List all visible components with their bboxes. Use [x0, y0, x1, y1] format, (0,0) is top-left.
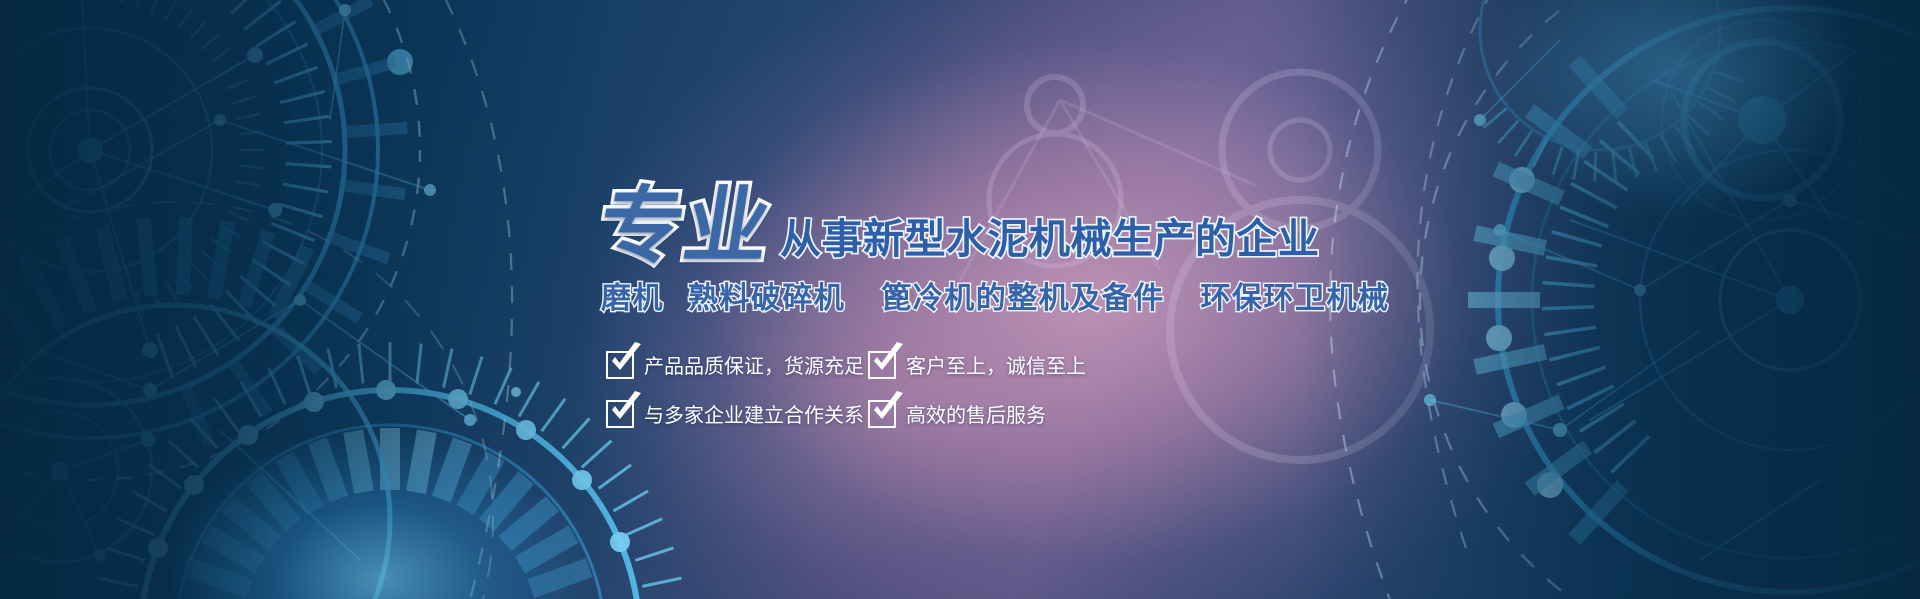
product-line-text: 磨机 熟料破碎机 篦冷机的整机及备件 环保环卫机械 — [601, 284, 1390, 314]
feature-label: 高效的售后服务 — [906, 399, 1046, 428]
feature-list: 产品品质保证，货源充足 客户至上，诚信至上 与多家企业建立合作关系 — [606, 350, 1166, 428]
headline-emphasis: 专业 — [594, 186, 777, 267]
checkbox-checked-icon — [868, 351, 896, 379]
feature-item: 客户至上，诚信至上 — [868, 350, 1166, 379]
banner-copy: 专业 从事新型水泥机械生产的企业 磨机 熟料破碎机 篦冷机的整机及备件 环保环卫… — [0, 0, 1920, 599]
hero-banner: 专业 从事新型水泥机械生产的企业 磨机 熟料破碎机 篦冷机的整机及备件 环保环卫… — [0, 0, 1920, 599]
headline-tail: 从事新型水泥机械生产的企业 — [780, 219, 1320, 267]
checkbox-checked-icon — [868, 400, 896, 428]
headline: 专业 从事新型水泥机械生产的企业 — [600, 186, 1320, 267]
checkbox-checked-icon — [606, 351, 634, 379]
feature-item: 高效的售后服务 — [868, 399, 1166, 428]
feature-item: 与多家企业建立合作关系 — [606, 399, 868, 428]
feature-label: 客户至上，诚信至上 — [906, 350, 1086, 379]
feature-label: 产品品质保证，货源充足 — [644, 350, 864, 379]
checkbox-checked-icon — [606, 400, 634, 428]
feature-item: 产品品质保证，货源充足 — [606, 350, 868, 379]
feature-label: 与多家企业建立合作关系 — [644, 399, 864, 428]
